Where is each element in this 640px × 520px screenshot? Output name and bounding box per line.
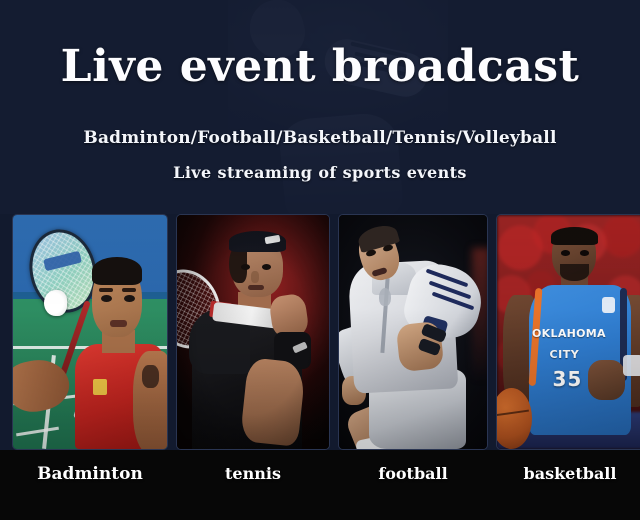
card-label-tennis[interactable]: tennis xyxy=(176,464,330,483)
sports-list-subtitle: Badminton/Football/Basketball/Tennis/Vol… xyxy=(0,128,640,148)
hero-header: Live event broadcast Badminton/Football/… xyxy=(0,0,640,214)
page-title: Live event broadcast xyxy=(0,43,640,91)
basketball-photo: OKLAHOMA CITY 35 xyxy=(497,215,640,449)
football-photo xyxy=(339,215,487,449)
jersey-team-city-line: OKLAHOMA xyxy=(532,327,637,340)
sport-card-badminton[interactable] xyxy=(12,214,168,450)
card-label-badminton[interactable]: Badminton xyxy=(12,464,168,484)
sport-card-tennis[interactable] xyxy=(176,214,330,450)
shuttlecock-icon xyxy=(44,290,67,316)
sport-card-gallery: OKLAHOMA CITY 35 xyxy=(0,214,640,450)
card-label-football[interactable]: football xyxy=(338,464,488,483)
tennis-photo xyxy=(177,215,329,449)
card-label-basketball[interactable]: basketball xyxy=(496,464,640,483)
live-broadcast-page: Live event broadcast Badminton/Football/… xyxy=(0,0,640,520)
badminton-photo xyxy=(13,215,167,449)
tagline-subtitle: Live streaming of sports events xyxy=(0,163,640,182)
card-label-bar: Badminton tennis football basketball xyxy=(0,450,640,520)
sport-card-basketball[interactable]: OKLAHOMA CITY 35 xyxy=(496,214,640,450)
sport-card-football[interactable] xyxy=(338,214,488,450)
